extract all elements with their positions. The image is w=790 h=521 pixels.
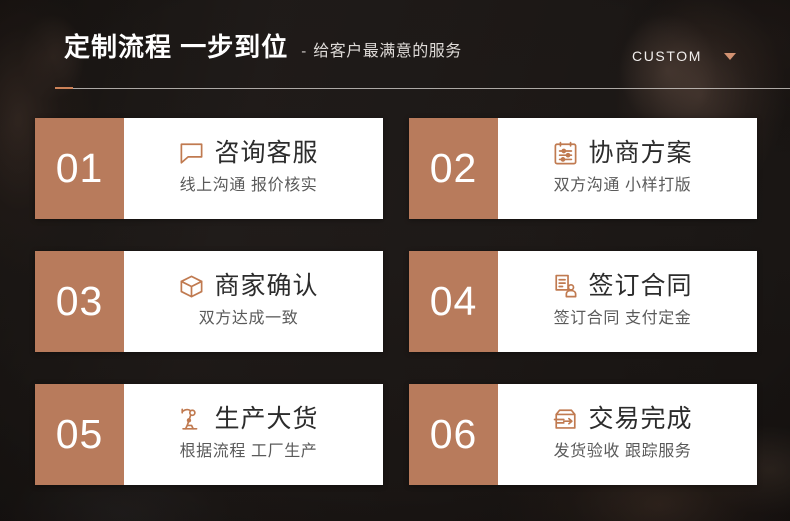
step-description: 签订合同 支付定金 <box>554 304 692 328</box>
step-heading: 生产大货 <box>178 406 318 433</box>
step-number: 01 <box>35 118 124 219</box>
step-heading: 签订合同 <box>552 273 692 300</box>
step-description: 双方沟通 小样打版 <box>554 171 692 195</box>
step-card[interactable]: 04 签订合同 签订合同 支付定金 <box>409 251 757 352</box>
step-number: 02 <box>409 118 498 219</box>
step-description: 根据流程 工厂生产 <box>180 437 318 461</box>
chevron-down-icon <box>724 53 736 60</box>
step-title: 生产大货 <box>214 406 318 433</box>
header-divider <box>55 88 790 89</box>
step-card[interactable]: 05 生产大货 <box>35 384 383 485</box>
custom-dropdown[interactable]: CUSTOM <box>632 48 736 64</box>
step-card[interactable]: 02 协商方案 双方沟通 小样打版 <box>409 118 757 219</box>
contract-signature-icon <box>552 273 579 300</box>
step-title: 协商方案 <box>588 140 692 167</box>
step-card[interactable]: 01 咨询客服 线上沟通 报价核实 <box>35 118 383 219</box>
custom-label: CUSTOM <box>632 48 702 64</box>
robot-arm-icon <box>178 406 205 433</box>
step-heading: 交易完成 <box>552 406 692 433</box>
title-subtitle-text: 给客户最满意的服务 <box>313 44 462 60</box>
step-content: 协商方案 双方沟通 小样打版 <box>498 118 757 219</box>
promo-banner: 定制流程 一步到位 - 给客户最满意的服务 CUSTOM 01 咨询客 <box>0 0 790 521</box>
header-divider-accent <box>55 87 73 89</box>
step-content: 交易完成 发货验收 跟踪服务 <box>498 384 757 485</box>
package-box-icon <box>178 273 205 300</box>
title-main-text: 定制流程 一步到位 <box>64 34 288 60</box>
step-card[interactable]: 03 商家确认 双方达成一致 <box>35 251 383 352</box>
step-number: 03 <box>35 251 124 352</box>
step-description: 发货验收 跟踪服务 <box>554 437 692 461</box>
step-content: 签订合同 签订合同 支付定金 <box>498 251 757 352</box>
step-title: 咨询客服 <box>214 140 318 167</box>
step-description: 线上沟通 报价核实 <box>180 171 318 195</box>
step-title: 交易完成 <box>588 406 692 433</box>
step-content: 商家确认 双方达成一致 <box>124 251 383 352</box>
title-separator: - <box>301 44 306 59</box>
shipping-box-arrow-icon <box>552 406 579 433</box>
clipboard-settings-icon <box>552 140 579 167</box>
speech-bubble-icon <box>178 140 205 167</box>
step-heading: 咨询客服 <box>178 140 318 167</box>
step-number: 05 <box>35 384 124 485</box>
step-heading: 协商方案 <box>552 140 692 167</box>
step-number: 04 <box>409 251 498 352</box>
banner-header: 定制流程 一步到位 - 给客户最满意的服务 CUSTOM <box>0 0 790 100</box>
step-heading: 商家确认 <box>178 273 318 300</box>
step-number: 06 <box>409 384 498 485</box>
step-title: 商家确认 <box>214 273 318 300</box>
step-content: 生产大货 根据流程 工厂生产 <box>124 384 383 485</box>
step-card[interactable]: 06 交易完成 发货验收 跟踪服务 <box>409 384 757 485</box>
step-content: 咨询客服 线上沟通 报价核实 <box>124 118 383 219</box>
steps-grid: 01 咨询客服 线上沟通 报价核实 02 <box>35 118 757 485</box>
page-title: 定制流程 一步到位 - 给客户最满意的服务 <box>64 34 462 60</box>
step-title: 签订合同 <box>588 273 692 300</box>
step-description: 双方达成一致 <box>199 304 299 328</box>
